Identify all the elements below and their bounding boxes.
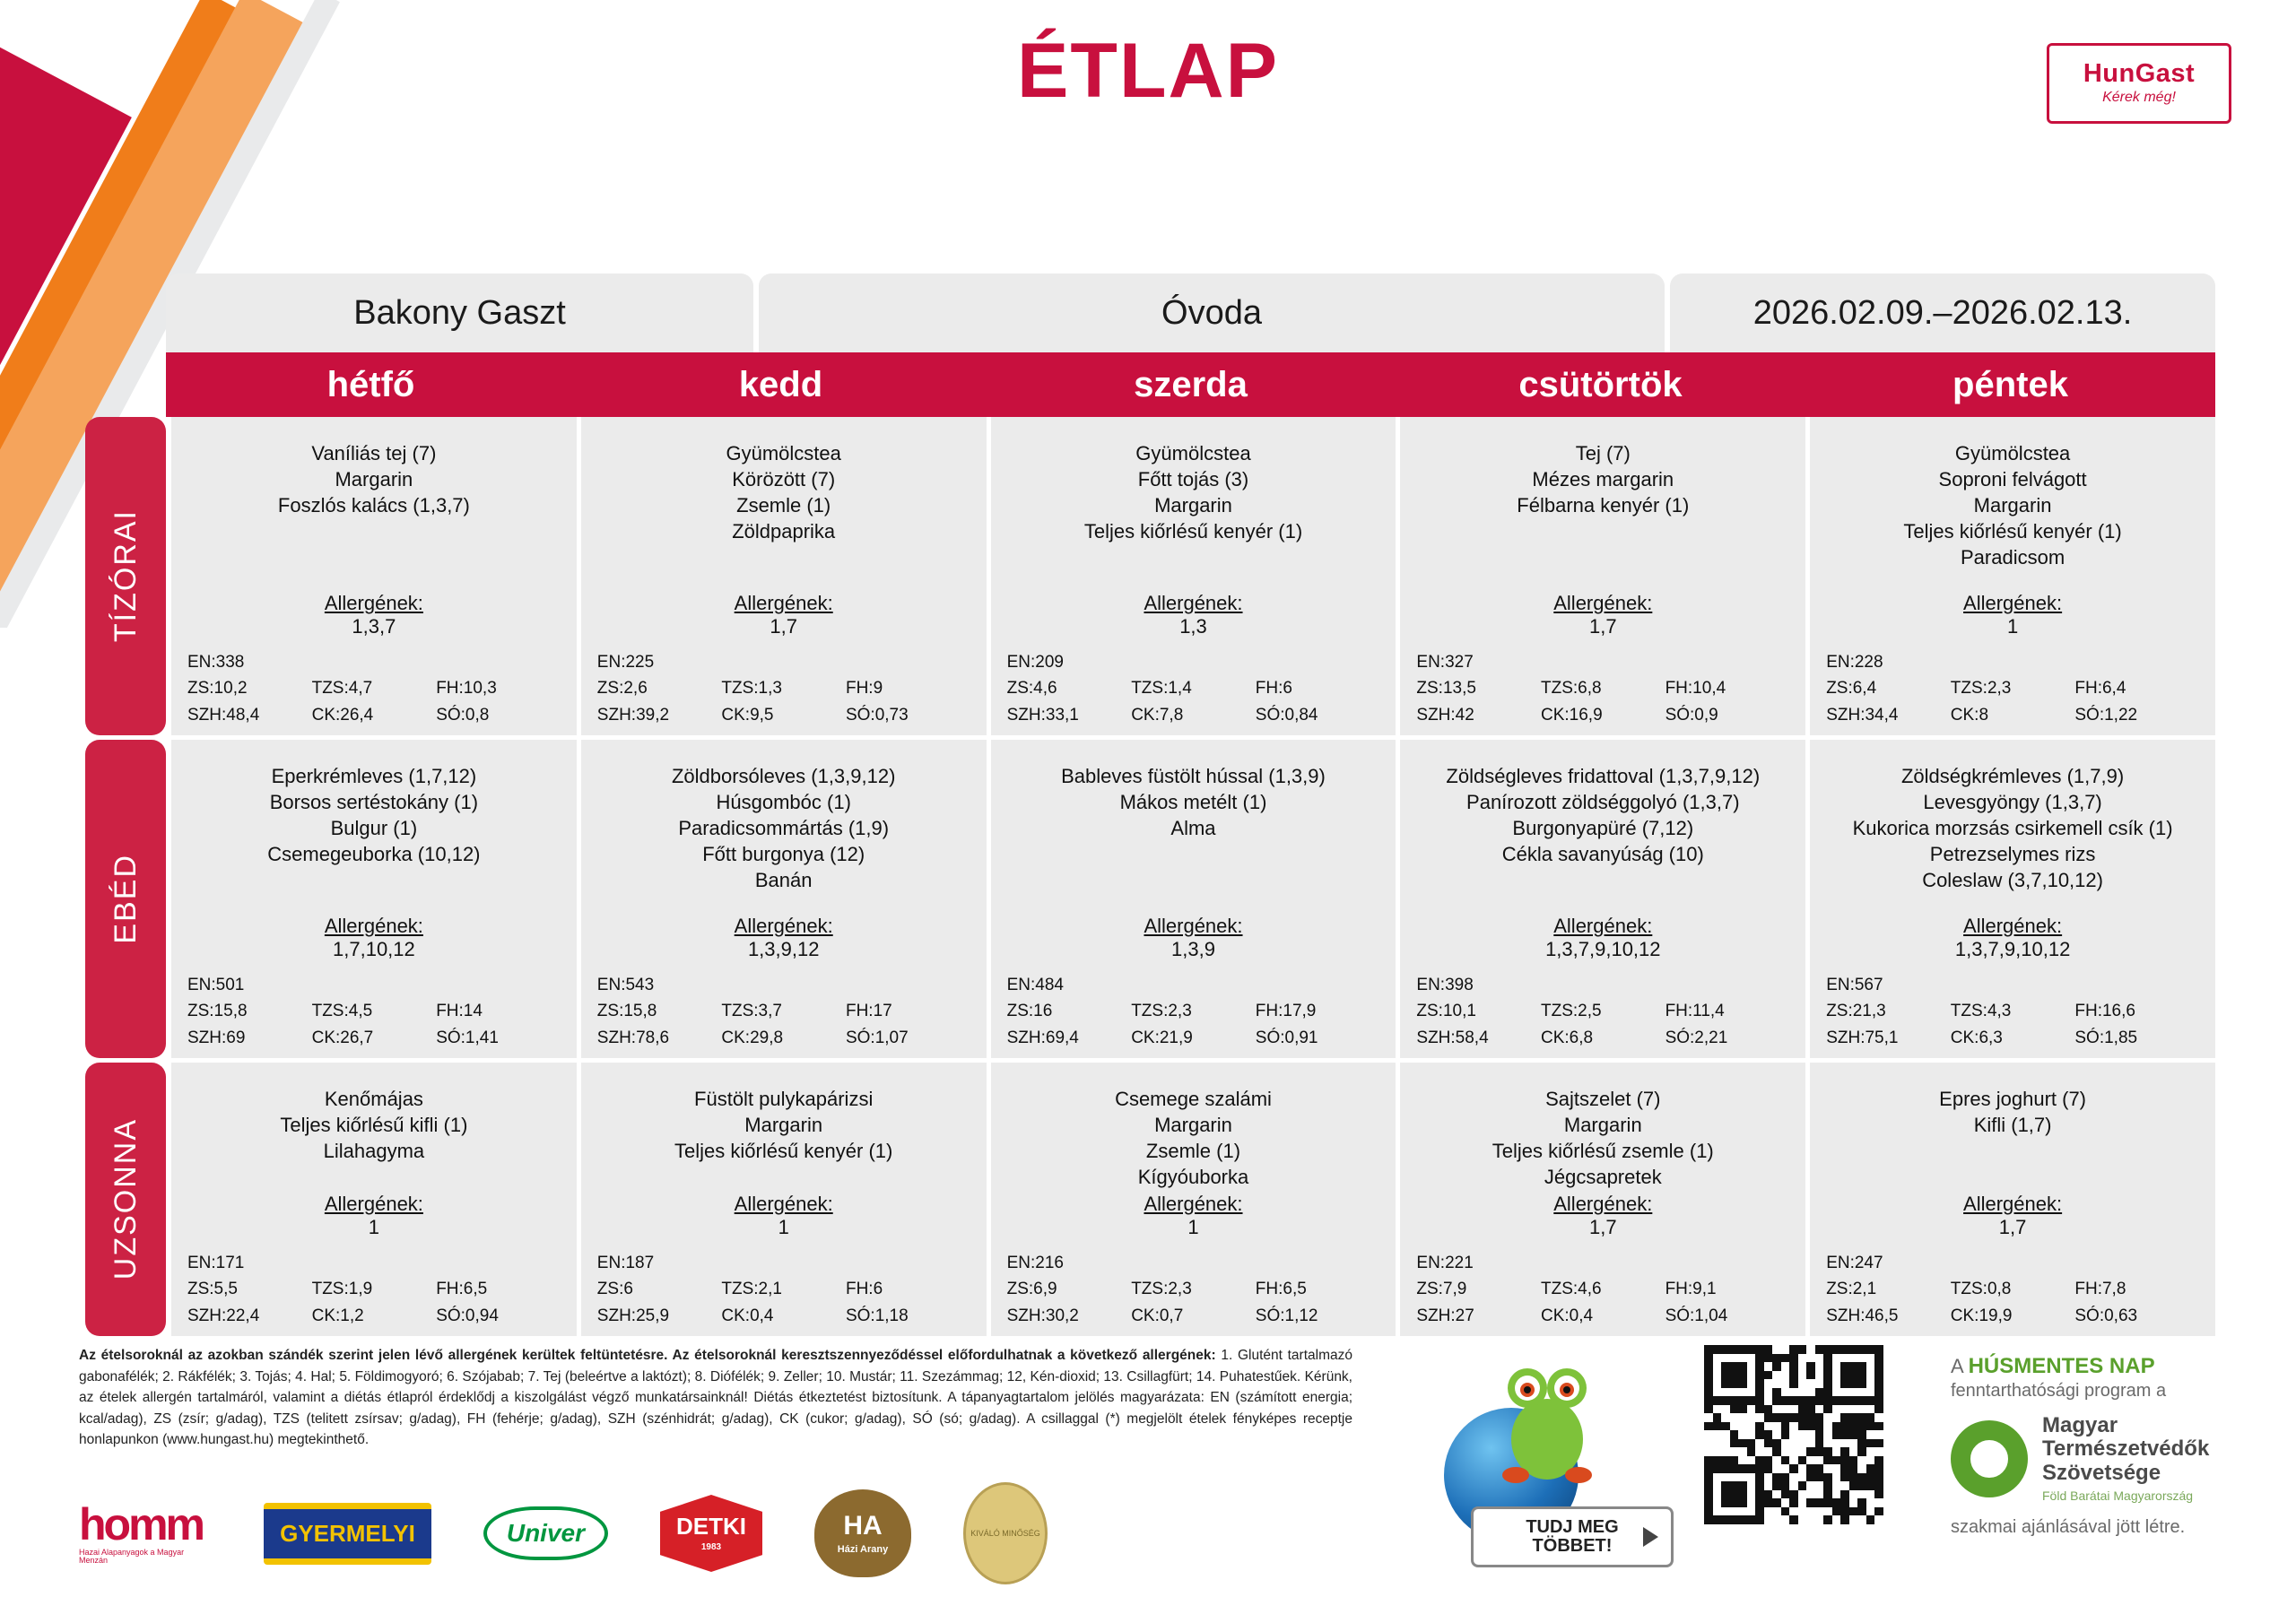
allergen-label: Allergének: bbox=[991, 915, 1396, 938]
nutrition-row: ZS:10,2TZS:4,7FH:10,3 bbox=[171, 675, 577, 701]
dish-item: Levesgyöngy (1,3,7) bbox=[1810, 789, 2215, 815]
sustainability-footer: szakmai ajánlásával jött létre. bbox=[1951, 1517, 2283, 1538]
nutrition-energy: EN:338 bbox=[187, 649, 312, 675]
dish-item: Körözött (7) bbox=[581, 466, 987, 492]
dish-item: Kenőmájas bbox=[171, 1086, 577, 1112]
nutrition-row: ZS:6TZS:2,1FH:6 bbox=[581, 1276, 987, 1302]
menu-cell-uzsonna-monday: KenőmájasTeljes kiőrlésű kifli (1)Lilaha… bbox=[171, 1063, 577, 1336]
day-header-thursday: csütörtök bbox=[1396, 352, 1805, 417]
nutrition-saturated-fat: TZS:4,3 bbox=[1951, 998, 2075, 1024]
day-header-friday: péntek bbox=[1805, 352, 2215, 417]
nutrition-salt: SÓ:0,8 bbox=[436, 702, 561, 728]
nutrition-row: SZH:25,9CK:0,4SÓ:1,18 bbox=[581, 1303, 987, 1329]
dish-item: Húsgombóc (1) bbox=[581, 789, 987, 815]
logo-hazi-arany-sub: Házi Arany bbox=[838, 1544, 888, 1555]
nutrition-row: ZS:2,1TZS:0,8FH:7,8 bbox=[1810, 1276, 2215, 1302]
menu-cell-ebéd-tuesday: Zöldborsóleves (1,3,9,12)Húsgombóc (1)Pa… bbox=[581, 740, 987, 1058]
dish-list: Zöldségkrémleves (1,7,9)Levesgyöngy (1,3… bbox=[1810, 740, 2215, 893]
meal-label-ebéd: EBÉD bbox=[85, 740, 166, 1058]
dish-item: Margarin bbox=[991, 1112, 1396, 1138]
nutrition-salt: SÓ:0,63 bbox=[2074, 1303, 2199, 1329]
dish-item: Főtt burgonya (12) bbox=[581, 841, 987, 867]
logo-hazi-arany-text: HA bbox=[843, 1513, 882, 1540]
nutrition-row: EN:501 bbox=[171, 972, 577, 998]
dish-item: Paradicsom bbox=[1810, 544, 2215, 570]
dish-item: Gyümölcstea bbox=[1810, 440, 2215, 466]
nutrition-protein: FH:6,5 bbox=[436, 1276, 561, 1302]
nutrition-row: EN:187 bbox=[581, 1250, 987, 1276]
nutrition-sugar: CK:26,7 bbox=[312, 1025, 437, 1051]
tudj-meg-tobbet-button[interactable]: TUDJ MEG TÖBBET! bbox=[1471, 1506, 1674, 1567]
dish-item: Panírozott zöldséggolyó (1,3,7) bbox=[1400, 789, 1805, 815]
dish-item: Bulgur (1) bbox=[171, 815, 577, 841]
nutrition-carbs: SZH:69 bbox=[187, 1025, 312, 1051]
nutrition-fat: ZS:5,5 bbox=[187, 1276, 312, 1302]
nutrition-carbs: SZH:58,4 bbox=[1416, 1025, 1541, 1051]
day-header-monday: hétfő bbox=[166, 352, 576, 417]
meal-band-tízórai: TÍZÓRAIVaníliás tej (7)MargarinFoszlós k… bbox=[85, 417, 2215, 735]
nutrition-row: EN:216 bbox=[991, 1250, 1396, 1276]
allergen-label: Allergének: bbox=[1810, 1193, 2215, 1216]
nutrition-row: ZS:5,5TZS:1,9FH:6,5 bbox=[171, 1276, 577, 1302]
nutrition-carbs: SZH:46,5 bbox=[1826, 1303, 1951, 1329]
nutrition-energy: EN:171 bbox=[187, 1250, 312, 1276]
nutrition-block: EN:567ZS:21,3TZS:4,3FH:16,6SZH:75,1CK:6,… bbox=[1810, 972, 2215, 1051]
dish-list: KenőmájasTeljes kiőrlésű kifli (1)Lilaha… bbox=[171, 1063, 577, 1164]
dish-item: Eperkrémleves (1,7,12) bbox=[171, 763, 577, 789]
dish-item: Mákos metélt (1) bbox=[991, 789, 1396, 815]
nutrition-protein: FH:7,8 bbox=[2074, 1276, 2199, 1302]
meal-cells: Eperkrémleves (1,7,12)Borsos sertéstokán… bbox=[171, 740, 2215, 1058]
allergen-block: Allergének:1,7 bbox=[1400, 1193, 1805, 1239]
nutrition-row: SZH:69,4CK:21,9SÓ:0,91 bbox=[991, 1025, 1396, 1051]
menu-cell-ebéd-wednesday: Bableves füstölt hússal (1,3,9)Mákos met… bbox=[991, 740, 1396, 1058]
dish-item: Banán bbox=[581, 867, 987, 893]
meal-label-tízórai: TÍZÓRAI bbox=[85, 417, 166, 735]
nutrition-row: EN:567 bbox=[1810, 972, 2215, 998]
nutrition-saturated-fat: TZS:1,9 bbox=[312, 1276, 437, 1302]
menu-cell-tízórai-friday: GyümölcsteaSoproni felvágottMargarinTelj… bbox=[1810, 417, 2215, 735]
logo-univer: Univer bbox=[483, 1506, 608, 1560]
allergen-label: Allergének: bbox=[1810, 915, 2215, 938]
allergen-values: 1 bbox=[1810, 615, 2215, 638]
allergen-values: 1,3 bbox=[991, 615, 1396, 638]
allergen-values: 1 bbox=[581, 1216, 987, 1239]
nutrition-row: EN:209 bbox=[991, 649, 1396, 675]
dish-item: Teljes kiőrlésű kifli (1) bbox=[171, 1112, 577, 1138]
meal-label-uzsonna: UZSONNA bbox=[85, 1063, 166, 1336]
footer-allergen-notice: Az ételsoroknál az azokban szándék szeri… bbox=[79, 1345, 1352, 1451]
nutrition-row: SZH:48,4CK:26,4SÓ:0,8 bbox=[171, 702, 577, 728]
allergen-label: Allergének: bbox=[171, 915, 577, 938]
nutrition-salt: SÓ:1,85 bbox=[2074, 1025, 2199, 1051]
nutrition-carbs: SZH:48,4 bbox=[187, 702, 312, 728]
dish-item: Margarin bbox=[1400, 1112, 1805, 1138]
header-tabs: Bakony Gaszt Óvoda 2026.02.09.–2026.02.1… bbox=[166, 273, 2215, 352]
nutrition-row: ZS:13,5TZS:6,8FH:10,4 bbox=[1400, 675, 1805, 701]
nutrition-row: SZH:42CK:16,9SÓ:0,9 bbox=[1400, 702, 1805, 728]
mtvsz-name-line3: Szövetsége bbox=[2042, 1462, 2209, 1485]
nutrition-carbs: SZH:42 bbox=[1416, 702, 1541, 728]
nutrition-row: ZS:6,4TZS:2,3FH:6,4 bbox=[1810, 675, 2215, 701]
nutrition-carbs: SZH:69,4 bbox=[1007, 1025, 1132, 1051]
dish-item: Vaníliás tej (7) bbox=[171, 440, 577, 466]
nutrition-block: EN:209ZS:4,6TZS:1,4FH:6SZH:33,1CK:7,8SÓ:… bbox=[991, 649, 1396, 728]
dish-list: Tej (7)Mézes margarinFélbarna kenyér (1) bbox=[1400, 417, 1805, 518]
allergen-block: Allergének:1,7,10,12 bbox=[171, 915, 577, 961]
dish-item: Félbarna kenyér (1) bbox=[1400, 492, 1805, 518]
nutrition-saturated-fat: TZS:1,3 bbox=[721, 675, 846, 701]
dish-item: Petrezselymes rizs bbox=[1810, 841, 2215, 867]
dish-item: Zöldpaprika bbox=[581, 518, 987, 544]
dish-item: Kígyóuborka bbox=[991, 1164, 1396, 1190]
nutrition-energy: EN:567 bbox=[1826, 972, 1951, 998]
nutrition-sugar: CK:1,2 bbox=[312, 1303, 437, 1329]
nutrition-row: ZS:4,6TZS:1,4FH:6 bbox=[991, 675, 1396, 701]
logo-detki: DETKI 1983 bbox=[660, 1495, 762, 1572]
dish-item: Margarin bbox=[991, 492, 1396, 518]
nutrition-block: EN:327ZS:13,5TZS:6,8FH:10,4SZH:42CK:16,9… bbox=[1400, 649, 1805, 728]
footer-text-part1: Az ételsoroknál az azokban szándék szeri… bbox=[79, 1348, 673, 1363]
nutrition-row: EN:484 bbox=[991, 972, 1396, 998]
nutrition-saturated-fat: TZS:3,7 bbox=[721, 998, 846, 1024]
nutrition-saturated-fat: TZS:2,3 bbox=[1951, 675, 2075, 701]
dish-item: Alma bbox=[991, 815, 1396, 841]
logo-quality-seal-text: KIVÁLÓ MINŐSÉG bbox=[963, 1482, 1048, 1584]
dish-item: Zöldborsóleves (1,3,9,12) bbox=[581, 763, 987, 789]
nutrition-protein: FH:11,4 bbox=[1665, 998, 1790, 1024]
menu-cell-uzsonna-wednesday: Csemege szalámiMargarinZsemle (1)Kígyóub… bbox=[991, 1063, 1396, 1336]
nutrition-salt: SÓ:0,73 bbox=[846, 702, 970, 728]
nutrition-saturated-fat: TZS:2,3 bbox=[1131, 998, 1256, 1024]
allergen-label: Allergének: bbox=[1810, 592, 2215, 615]
nutrition-block: EN:225ZS:2,6TZS:1,3FH:9SZH:39,2CK:9,5SÓ:… bbox=[581, 649, 987, 728]
nutrition-fat: ZS:10,1 bbox=[1416, 998, 1541, 1024]
footer-text-part2: Az ételsoroknál keresztszennyeződéssel e… bbox=[673, 1348, 1216, 1363]
dish-list: Zöldborsóleves (1,3,9,12)Húsgombóc (1)Pa… bbox=[581, 740, 987, 893]
nutrition-saturated-fat: TZS:6,8 bbox=[1541, 675, 1665, 701]
nutrition-row: SZH:46,5CK:19,9SÓ:0,63 bbox=[1810, 1303, 2215, 1329]
nutrition-protein: FH:17 bbox=[846, 998, 970, 1024]
dish-item: Teljes kiőrlésű zsemle (1) bbox=[1400, 1138, 1805, 1164]
nutrition-block: EN:247ZS:2,1TZS:0,8FH:7,8SZH:46,5CK:19,9… bbox=[1810, 1250, 2215, 1329]
nutrition-fat: ZS:7,9 bbox=[1416, 1276, 1541, 1302]
dish-item: Teljes kiőrlésű kenyér (1) bbox=[1810, 518, 2215, 544]
meal-cells: KenőmájasTeljes kiőrlésű kifli (1)Lilaha… bbox=[171, 1063, 2215, 1336]
nutrition-block: EN:187ZS:6TZS:2,1FH:6SZH:25,9CK:0,4SÓ:1,… bbox=[581, 1250, 987, 1329]
allergen-values: 1,7 bbox=[1400, 1216, 1805, 1239]
nutrition-fat: ZS:6,4 bbox=[1826, 675, 1951, 701]
nutrition-fat: ZS:13,5 bbox=[1416, 675, 1541, 701]
nutrition-row: ZS:6,9TZS:2,3FH:6,5 bbox=[991, 1276, 1396, 1302]
dish-item: Burgonyapüré (7,12) bbox=[1400, 815, 1805, 841]
dish-item: Coleslaw (3,7,10,12) bbox=[1810, 867, 2215, 893]
page-title: ÉTLAP bbox=[0, 27, 2296, 116]
logo-gyermelyi-text: GYERMELYI bbox=[264, 1503, 431, 1565]
nutrition-protein: FH:9,1 bbox=[1665, 1276, 1790, 1302]
nutrition-energy: EN:209 bbox=[1007, 649, 1132, 675]
dish-item: Margarin bbox=[581, 1112, 987, 1138]
dish-item: Kifli (1,7) bbox=[1810, 1112, 2215, 1138]
meal-cells: Vaníliás tej (7)MargarinFoszlós kalács (… bbox=[171, 417, 2215, 735]
nutrition-row: EN:247 bbox=[1810, 1250, 2215, 1276]
mtvsz-name-line2: Természetvédők bbox=[2042, 1437, 2209, 1461]
nutrition-salt: SÓ:0,9 bbox=[1665, 702, 1790, 728]
allergen-values: 1,7,10,12 bbox=[171, 938, 577, 961]
dish-list: Csemege szalámiMargarinZsemle (1)Kígyóub… bbox=[991, 1063, 1396, 1190]
allergen-values: 1,7 bbox=[581, 615, 987, 638]
nutrition-row: SZH:75,1CK:6,3SÓ:1,85 bbox=[1810, 1025, 2215, 1051]
hungast-logo-name: HunGast bbox=[2083, 61, 2195, 87]
nutrition-sugar: CK:0,4 bbox=[721, 1303, 846, 1329]
nutrition-sugar: CK:0,4 bbox=[1541, 1303, 1665, 1329]
menu-cell-tízórai-thursday: Tej (7)Mézes margarinFélbarna kenyér (1)… bbox=[1400, 417, 1805, 735]
nutrition-saturated-fat: TZS:4,6 bbox=[1541, 1276, 1665, 1302]
dish-item: Sajtszelet (7) bbox=[1400, 1086, 1805, 1112]
nutrition-fat: ZS:10,2 bbox=[187, 675, 312, 701]
allergen-block: Allergének:1,7 bbox=[581, 592, 987, 638]
nutrition-row: SZH:69CK:26,7SÓ:1,41 bbox=[171, 1025, 577, 1051]
allergen-label: Allergének: bbox=[171, 1193, 577, 1216]
dish-item: Soproni felvágott bbox=[1810, 466, 2215, 492]
dish-item: Csemegeuborka (10,12) bbox=[171, 841, 577, 867]
nutrition-block: EN:221ZS:7,9TZS:4,6FH:9,1SZH:27CK:0,4SÓ:… bbox=[1400, 1250, 1805, 1329]
dish-item: Borsos sertéstokány (1) bbox=[171, 789, 577, 815]
meal-label-text: EBÉD bbox=[109, 854, 143, 944]
nutrition-row: EN:221 bbox=[1400, 1250, 1805, 1276]
allergen-block: Allergének:1 bbox=[991, 1193, 1396, 1239]
dish-list: GyümölcsteaKörözött (7)Zsemle (1)Zöldpap… bbox=[581, 417, 987, 544]
nutrition-sugar: CK:29,8 bbox=[721, 1025, 846, 1051]
allergen-label: Allergének: bbox=[581, 1193, 987, 1216]
nutrition-row: EN:398 bbox=[1400, 972, 1805, 998]
menu-cell-ebéd-friday: Zöldségkrémleves (1,7,9)Levesgyöngy (1,3… bbox=[1810, 740, 2215, 1058]
allergen-label: Allergének: bbox=[581, 915, 987, 938]
nutrition-sugar: CK:7,8 bbox=[1131, 702, 1256, 728]
logo-homm-text: homm bbox=[79, 1499, 203, 1549]
menu-cell-tízórai-monday: Vaníliás tej (7)MargarinFoszlós kalács (… bbox=[171, 417, 577, 735]
nutrition-block: EN:543ZS:15,8TZS:3,7FH:17SZH:78,6CK:29,8… bbox=[581, 972, 987, 1051]
nutrition-salt: SÓ:1,04 bbox=[1665, 1303, 1790, 1329]
allergen-block: Allergének:1,7 bbox=[1400, 592, 1805, 638]
dish-list: Epres joghurt (7)Kifli (1,7) bbox=[1810, 1063, 2215, 1138]
tab-date-range[interactable]: 2026.02.09.–2026.02.13. bbox=[1670, 273, 2215, 352]
nutrition-energy: EN:484 bbox=[1007, 972, 1132, 998]
tab-institution[interactable]: Óvoda bbox=[759, 273, 1665, 352]
nutrition-block: EN:501ZS:15,8TZS:4,5FH:14SZH:69CK:26,7SÓ… bbox=[171, 972, 577, 1051]
nutrition-row: SZH:33,1CK:7,8SÓ:0,84 bbox=[991, 702, 1396, 728]
allergen-block: Allergének:1,3,7,9,10,12 bbox=[1400, 915, 1805, 961]
nutrition-energy: EN:543 bbox=[597, 972, 722, 998]
dish-item: Paradicsommártás (1,9) bbox=[581, 815, 987, 841]
nutrition-fat: ZS:6 bbox=[597, 1276, 722, 1302]
dish-item: Főtt tojás (3) bbox=[991, 466, 1396, 492]
nutrition-row: ZS:15,8TZS:4,5FH:14 bbox=[171, 998, 577, 1024]
allergen-label: Allergének: bbox=[991, 592, 1396, 615]
dish-item: Füstölt pulykapárizsi bbox=[581, 1086, 987, 1112]
logo-hazi-arany: HA Házi Arany bbox=[814, 1489, 911, 1577]
mtvsz-ring-icon bbox=[1951, 1420, 2028, 1497]
nutrition-energy: EN:247 bbox=[1826, 1250, 1951, 1276]
qr-code[interactable] bbox=[1704, 1345, 1883, 1524]
dish-item: Foszlós kalács (1,3,7) bbox=[171, 492, 577, 518]
nutrition-row: SZH:58,4CK:6,8SÓ:2,21 bbox=[1400, 1025, 1805, 1051]
menu-cell-tízórai-tuesday: GyümölcsteaKörözött (7)Zsemle (1)Zöldpap… bbox=[581, 417, 987, 735]
hungast-logo-slogan: Kérek még! bbox=[2102, 90, 2176, 106]
nutrition-energy: EN:228 bbox=[1826, 649, 1951, 675]
nutrition-carbs: SZH:33,1 bbox=[1007, 702, 1132, 728]
nutrition-sugar: CK:8 bbox=[1951, 702, 2075, 728]
dish-item: Margarin bbox=[171, 466, 577, 492]
menu-cell-ebéd-thursday: Zöldségleves fridattoval (1,3,7,9,12)Pan… bbox=[1400, 740, 1805, 1058]
allergen-block: Allergének:1,3,9 bbox=[991, 915, 1396, 961]
nutrition-row: SZH:78,6CK:29,8SÓ:1,07 bbox=[581, 1025, 987, 1051]
nutrition-row: EN:338 bbox=[171, 649, 577, 675]
day-header-wednesday: szerda bbox=[986, 352, 1396, 417]
nutrition-row: ZS:2,6TZS:1,3FH:9 bbox=[581, 675, 987, 701]
nutrition-energy: EN:187 bbox=[597, 1250, 722, 1276]
dish-item: Zsemle (1) bbox=[581, 492, 987, 518]
dish-item: Gyümölcstea bbox=[991, 440, 1396, 466]
dish-item: Zöldségleves fridattoval (1,3,7,9,12) bbox=[1400, 763, 1805, 789]
nutrition-sugar: CK:9,5 bbox=[721, 702, 846, 728]
nutrition-fat: ZS:15,8 bbox=[597, 998, 722, 1024]
menu-cell-ebéd-monday: Eperkrémleves (1,7,12)Borsos sertéstokán… bbox=[171, 740, 577, 1058]
nutrition-salt: SÓ:2,21 bbox=[1665, 1025, 1790, 1051]
nutrition-block: EN:171ZS:5,5TZS:1,9FH:6,5SZH:22,4CK:1,2S… bbox=[171, 1250, 577, 1329]
sustainability-subtitle: fenntarthatósági program a bbox=[1951, 1381, 2283, 1402]
logo-quality-seal: KIVÁLÓ MINŐSÉG bbox=[963, 1482, 1048, 1584]
dish-item: Zöldségkrémleves (1,7,9) bbox=[1810, 763, 2215, 789]
logo-homm-tagline: Hazai Alapanyagok a Magyar Menzán bbox=[79, 1549, 212, 1565]
mtvsz-name-line1: Magyar bbox=[2042, 1414, 2209, 1437]
hungast-logo: HunGast Kérek még! bbox=[2047, 43, 2231, 124]
dish-item: Teljes kiőrlésű kenyér (1) bbox=[991, 518, 1396, 544]
dish-item: Gyümölcstea bbox=[581, 440, 987, 466]
nutrition-block: EN:216ZS:6,9TZS:2,3FH:6,5SZH:30,2CK:0,7S… bbox=[991, 1250, 1396, 1329]
allergen-values: 1,7 bbox=[1400, 615, 1805, 638]
dish-item: Cékla savanyúság (10) bbox=[1400, 841, 1805, 867]
dish-list: Vaníliás tej (7)MargarinFoszlós kalács (… bbox=[171, 417, 577, 518]
nutrition-block: EN:228ZS:6,4TZS:2,3FH:6,4SZH:34,4CK:8SÓ:… bbox=[1810, 649, 2215, 728]
allergen-values: 1,3,7,9,10,12 bbox=[1400, 938, 1805, 961]
dish-item: Zsemle (1) bbox=[991, 1138, 1396, 1164]
logo-detki-text: DETKI bbox=[676, 1513, 746, 1540]
nutrition-protein: FH:14 bbox=[436, 998, 561, 1024]
dish-item: Epres joghurt (7) bbox=[1810, 1086, 2215, 1112]
nutrition-carbs: SZH:27 bbox=[1416, 1303, 1541, 1329]
menu-cell-uzsonna-friday: Epres joghurt (7)Kifli (1,7)Allergének:1… bbox=[1810, 1063, 2215, 1336]
tab-company[interactable]: Bakony Gaszt bbox=[166, 273, 753, 352]
nutrition-row: SZH:22,4CK:1,2SÓ:0,94 bbox=[171, 1303, 577, 1329]
nutrition-protein: FH:6,5 bbox=[1256, 1276, 1380, 1302]
allergen-label: Allergének: bbox=[171, 592, 577, 615]
allergen-block: Allergének:1,3,7,9,10,12 bbox=[1810, 915, 2215, 961]
nutrition-salt: SÓ:0,84 bbox=[1256, 702, 1380, 728]
dish-item: Tej (7) bbox=[1400, 440, 1805, 466]
allergen-values: 1 bbox=[171, 1216, 577, 1239]
nutrition-row: ZS:16TZS:2,3FH:17,9 bbox=[991, 998, 1396, 1024]
allergen-block: Allergének:1 bbox=[581, 1193, 987, 1239]
allergen-label: Allergének: bbox=[581, 592, 987, 615]
nutrition-block: EN:338ZS:10,2TZS:4,7FH:10,3SZH:48,4CK:26… bbox=[171, 649, 577, 728]
nutrition-protein: FH:10,4 bbox=[1665, 675, 1790, 701]
allergen-label: Allergének: bbox=[1400, 592, 1805, 615]
nutrition-carbs: SZH:30,2 bbox=[1007, 1303, 1132, 1329]
nutrition-protein: FH:6,4 bbox=[2074, 675, 2199, 701]
nutrition-row: EN:228 bbox=[1810, 649, 2215, 675]
nutrition-row: ZS:7,9TZS:4,6FH:9,1 bbox=[1400, 1276, 1805, 1302]
nutrition-fat: ZS:21,3 bbox=[1826, 998, 1951, 1024]
dish-list: Bableves füstölt hússal (1,3,9)Mákos met… bbox=[991, 740, 1396, 841]
frog-icon bbox=[1498, 1354, 1596, 1488]
allergen-block: Allergének:1,3,9,12 bbox=[581, 915, 987, 961]
allergen-values: 1,3,7 bbox=[171, 615, 577, 638]
nutrition-salt: SÓ:1,12 bbox=[1256, 1303, 1380, 1329]
nutrition-carbs: SZH:75,1 bbox=[1826, 1025, 1951, 1051]
dish-item: Bableves füstölt hússal (1,3,9) bbox=[991, 763, 1396, 789]
nutrition-row: EN:225 bbox=[581, 649, 987, 675]
nutrition-fat: ZS:4,6 bbox=[1007, 675, 1132, 701]
nutrition-protein: FH:9 bbox=[846, 675, 970, 701]
partner-logos: homm Hazai Alapanyagok a Magyar Menzán G… bbox=[79, 1484, 1048, 1583]
nutrition-sugar: CK:6,3 bbox=[1951, 1025, 2075, 1051]
nutrition-fat: ZS:2,6 bbox=[597, 675, 722, 701]
nutrition-energy: EN:225 bbox=[597, 649, 722, 675]
mtvsz-subtitle: Föld Barátai Magyarország bbox=[2042, 1488, 2209, 1503]
allergen-block: Allergének:1,7 bbox=[1810, 1193, 2215, 1239]
dish-list: GyümölcsteaSoproni felvágottMargarinTelj… bbox=[1810, 417, 2215, 570]
nutrition-row: ZS:15,8TZS:3,7FH:17 bbox=[581, 998, 987, 1024]
allergen-values: 1,7 bbox=[1810, 1216, 2215, 1239]
sustainability-block: A HÚSMENTES NAP fenntarthatósági program… bbox=[1951, 1354, 2283, 1538]
play-arrow-icon bbox=[1643, 1527, 1658, 1547]
nutrition-row: EN:171 bbox=[171, 1250, 577, 1276]
nutrition-carbs: SZH:34,4 bbox=[1826, 702, 1951, 728]
meal-label-text: UZSONNA bbox=[109, 1118, 143, 1280]
logo-homm: homm Hazai Alapanyagok a Magyar Menzán bbox=[79, 1502, 212, 1565]
allergen-values: 1 bbox=[991, 1216, 1396, 1239]
allergen-label: Allergének: bbox=[1400, 915, 1805, 938]
meal-label-text: TÍZÓRAI bbox=[109, 509, 143, 642]
day-header-row: hétfő kedd szerda csütörtök péntek bbox=[166, 352, 2215, 417]
nutrition-energy: EN:501 bbox=[187, 972, 312, 998]
logo-univer-text: Univer bbox=[483, 1506, 608, 1560]
nutrition-protein: FH:17,9 bbox=[1256, 998, 1380, 1024]
allergen-values: 1,3,9 bbox=[991, 938, 1396, 961]
allergen-label: Allergének: bbox=[991, 1193, 1396, 1216]
day-header-tuesday: kedd bbox=[576, 352, 986, 417]
nutrition-row: EN:327 bbox=[1400, 649, 1805, 675]
nutrition-protein: FH:6 bbox=[846, 1276, 970, 1302]
nutrition-sugar: CK:16,9 bbox=[1541, 702, 1665, 728]
nutrition-sugar: CK:0,7 bbox=[1131, 1303, 1256, 1329]
nutrition-sugar: CK:26,4 bbox=[312, 702, 437, 728]
nutrition-energy: EN:216 bbox=[1007, 1250, 1132, 1276]
dish-list: Sajtszelet (7)MargarinTeljes kiőrlésű zs… bbox=[1400, 1063, 1805, 1190]
nutrition-saturated-fat: TZS:1,4 bbox=[1131, 675, 1256, 701]
nutrition-row: SZH:27CK:0,4SÓ:1,04 bbox=[1400, 1303, 1805, 1329]
nutrition-energy: EN:398 bbox=[1416, 972, 1541, 998]
nutrition-saturated-fat: TZS:0,8 bbox=[1951, 1276, 2075, 1302]
dish-item: Kukorica morzsás csirkemell csík (1) bbox=[1810, 815, 2215, 841]
nutrition-block: EN:398ZS:10,1TZS:2,5FH:11,4SZH:58,4CK:6,… bbox=[1400, 972, 1805, 1051]
nutrition-salt: SÓ:0,94 bbox=[436, 1303, 561, 1329]
logo-detki-year: 1983 bbox=[676, 1543, 746, 1552]
nutrition-sugar: CK:6,8 bbox=[1541, 1025, 1665, 1051]
cta-line1: TUDJ MEG bbox=[1526, 1518, 1618, 1537]
dish-item: Csemege szalámi bbox=[991, 1086, 1396, 1112]
